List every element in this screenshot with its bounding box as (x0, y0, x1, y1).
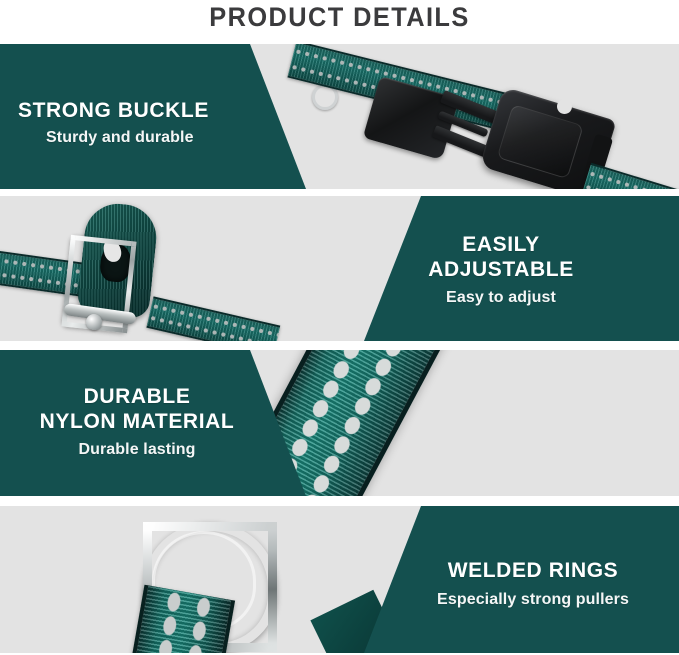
reflective-dots (587, 170, 679, 189)
feature-subtitle: Especially strong pullers (405, 589, 661, 611)
feature-text-strong-buckle: STRONG BUCKLE Sturdy and durable (18, 98, 209, 149)
collar-strap-right (581, 163, 679, 189)
collar-strap-right (146, 296, 280, 341)
feature-heading: WELDED RINGS (405, 558, 661, 583)
feature-heading-line2: ADJUSTABLE (351, 257, 651, 282)
feature-text-durable-nylon-material: DURABLE NYLON MATERIAL Durable lasting (6, 384, 268, 461)
feature-panel-durable-nylon-material: DURABLE NYLON MATERIAL Durable lasting (0, 350, 679, 496)
feature-subtitle: Sturdy and durable (18, 127, 209, 149)
title-bar: PRODUCT DETAILS (0, 0, 679, 41)
feature-text-welded-rings: WELDED RINGS Especially strong pullers (405, 558, 661, 611)
feature-subtitle: Easy to adjust (351, 287, 651, 309)
reflective-stripe (182, 594, 213, 653)
feature-panel-strong-buckle: STRONG BUCKLE Sturdy and durable (0, 44, 679, 189)
feature-heading-line2: NYLON MATERIAL (6, 409, 268, 434)
feature-text-easily-adjustable: EASILY ADJUSTABLE Easy to adjust (351, 232, 651, 309)
feature-heading: STRONG BUCKLE (18, 98, 209, 123)
slider-rivet (86, 314, 102, 330)
page-title: PRODUCT DETAILS (209, 1, 469, 34)
feature-heading-line1: EASILY (351, 232, 651, 257)
feature-panel-easily-adjustable: EASILY ADJUSTABLE Easy to adjust (0, 196, 679, 341)
feature-subtitle: Durable lasting (6, 439, 268, 461)
reflective-stripe (153, 589, 184, 653)
feature-panel-welded-rings: WELDED RINGS Especially strong pullers (0, 506, 679, 653)
feature-heading-line1: DURABLE (6, 384, 268, 409)
product-details-infographic: PRODUCT DETAILS (0, 0, 679, 655)
